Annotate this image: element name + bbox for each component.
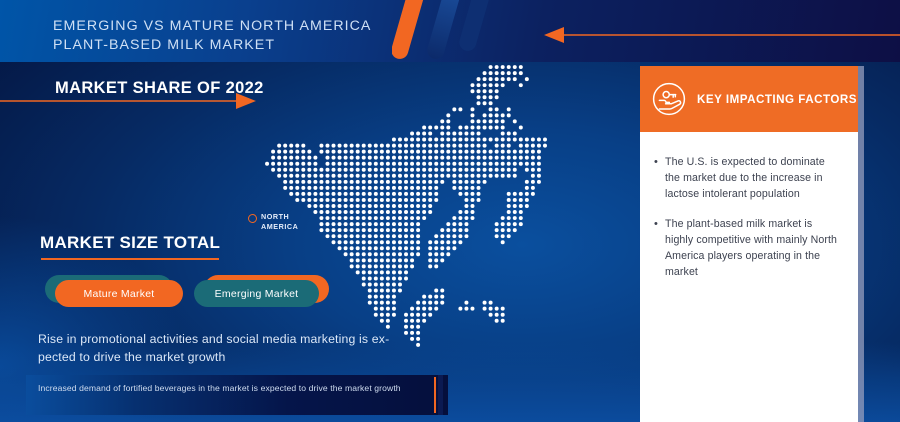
footer-dark-bar [438, 375, 443, 415]
badge-mature-label: Mature Market [55, 280, 183, 307]
map-region-label: NORTH AMERICA [261, 212, 298, 232]
brand-logo-mark [392, 0, 492, 62]
list-item-text: The U.S. is expected to dominate the mar… [665, 154, 842, 202]
infographic-canvas: EMERGING VS MATURE NORTH AMERICA PLANT-B… [0, 0, 900, 422]
arrow-right-icon [0, 90, 260, 112]
map-region-label-line-1: NORTH [261, 212, 298, 222]
footer-banner: Increased demand of fortified beverages … [26, 375, 448, 415]
bullet-marker: • [654, 154, 665, 202]
list-item: • The plant-based milk market is highly … [654, 216, 842, 280]
key-impacting-factors-card: KEY IMPACTING FACTORS • The U.S. is expe… [640, 66, 858, 422]
badge-mature-market[interactable]: Mature Market [45, 275, 195, 309]
dotted-north-america-map [258, 58, 548, 360]
arrow-left-icon [540, 24, 900, 46]
location-ring-icon [248, 214, 257, 223]
list-item: • The U.S. is expected to dominate the m… [654, 154, 842, 202]
bullet-marker: • [654, 216, 665, 280]
key-impacting-factors-list: • The U.S. is expected to dominate the m… [640, 132, 858, 294]
key-impacting-factors-title: KEY IMPACTING FACTORS [697, 93, 857, 106]
market-size-underline [41, 258, 219, 260]
badge-emerging-market[interactable]: Emerging Market [186, 275, 346, 309]
market-size-heading: MARKET SIZE TOTAL [40, 233, 220, 253]
footer-accent-bar [434, 377, 436, 413]
hand-holding-key-icon [652, 82, 686, 116]
footer-banner-text: Increased demand of fortified beverages … [38, 382, 420, 395]
list-item-text: The plant-based milk market is highly co… [665, 216, 842, 280]
badge-emerging-label: Emerging Market [194, 280, 319, 307]
market-size-body-copy: Rise in promotional activities and socia… [38, 330, 410, 366]
key-impacting-factors-header: KEY IMPACTING FACTORS [640, 66, 858, 132]
map-region-label-line-2: AMERICA [261, 222, 298, 232]
